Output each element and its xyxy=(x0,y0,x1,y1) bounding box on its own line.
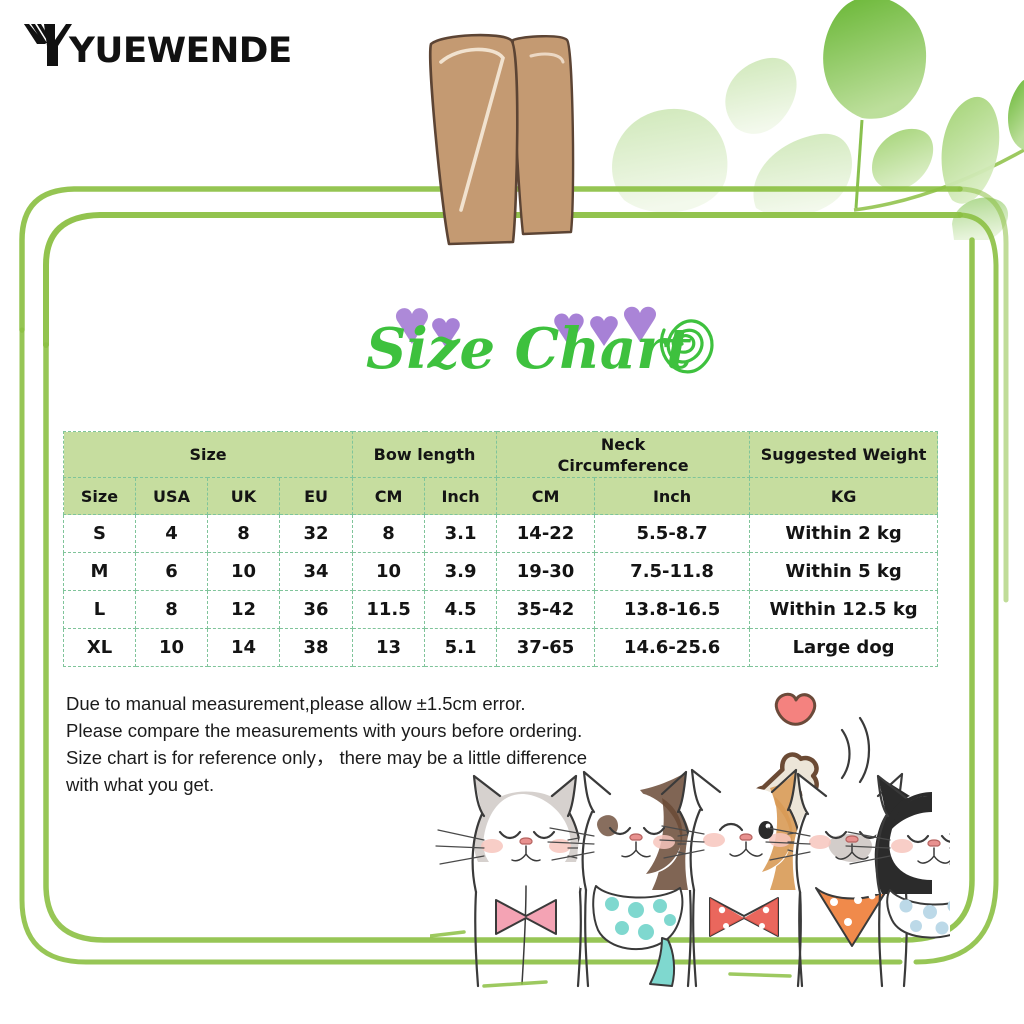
group-header-neck-line2: Circumference xyxy=(497,455,749,476)
column-header-size: Size xyxy=(64,478,136,515)
wooden-clothespin-icon xyxy=(415,28,590,248)
orange-polka-bandana-icon xyxy=(816,888,888,946)
cell-size: M xyxy=(64,553,136,591)
size-chart-page: Size Chart Size Bow length Neck Circumfe… xyxy=(0,0,1024,1024)
group-header-neck-line1: Neck xyxy=(497,434,749,455)
size-chart-table-container: Size Bow length Neck Circumference Sugge… xyxy=(63,431,937,667)
red-polka-bow-tie-icon xyxy=(710,898,778,936)
table-column-header-row: Size USA UK EU CM Inch CM Inch KG xyxy=(64,478,938,515)
brand-name: YUEWENDE xyxy=(69,34,292,68)
column-header-uk: UK xyxy=(208,478,280,515)
cell-bow-cm: 10 xyxy=(353,553,425,591)
group-header-size: Size xyxy=(64,432,353,478)
cell-neck-cm: 35-42 xyxy=(497,591,595,629)
measurement-disclaimer: Due to manual measurement,please allow ±… xyxy=(66,690,686,798)
table-row: M 6 10 34 10 3.9 19-30 7.5-11.8 Within 5… xyxy=(64,553,938,591)
cartoon-cat-icon xyxy=(436,776,616,986)
cell-neck-inch: 5.5-8.7 xyxy=(595,515,750,553)
cell-weight: Within 12.5 kg xyxy=(750,591,938,629)
green-leaf-icon xyxy=(872,129,933,190)
leaf-decoration-group xyxy=(604,0,1024,240)
dog-bone-icon xyxy=(746,745,887,878)
group-header-suggested-weight: Suggested Weight xyxy=(750,432,938,478)
cell-neck-cm: 37-65 xyxy=(497,629,595,667)
cell-bow-inch: 3.9 xyxy=(425,553,497,591)
cell-usa: 10 xyxy=(136,629,208,667)
mint-polka-scarf-icon xyxy=(593,886,682,986)
disclaimer-line-2: Please compare the measurements with you… xyxy=(66,717,686,744)
green-leaf-icon xyxy=(823,0,926,119)
pink-heart-icon xyxy=(776,694,814,724)
cell-bow-cm: 11.5 xyxy=(353,591,425,629)
disclaimer-line-1: Due to manual measurement,please allow ±… xyxy=(66,690,686,717)
green-leaf-icon xyxy=(1008,80,1024,150)
cell-eu: 38 xyxy=(280,629,353,667)
motion-lines-icon xyxy=(842,718,869,782)
green-leaf-icon xyxy=(952,197,1008,240)
green-leaf-icon xyxy=(725,58,796,134)
page-title: Size Chart xyxy=(366,318,692,380)
pink-bow-tie-icon xyxy=(496,900,556,934)
cell-neck-inch: 13.8-16.5 xyxy=(595,591,750,629)
cell-bow-inch: 5.1 xyxy=(425,629,497,667)
cell-eu: 36 xyxy=(280,591,353,629)
table-row: S 4 8 32 8 3.1 14-22 5.5-8.7 Within 2 kg xyxy=(64,515,938,553)
column-header-eu: EU xyxy=(280,478,353,515)
cell-usa: 8 xyxy=(136,591,208,629)
table-row: XL 10 14 38 13 5.1 37-65 14.6-25.6 Large… xyxy=(64,629,938,667)
column-header-bow-inch: Inch xyxy=(425,478,497,515)
cell-bow-cm: 13 xyxy=(353,629,425,667)
cell-uk: 14 xyxy=(208,629,280,667)
grass-stroke-icon xyxy=(430,932,790,986)
cell-usa: 4 xyxy=(136,515,208,553)
disclaimer-line-3: Size chart is for reference only， there … xyxy=(66,744,686,771)
title-block: Size Chart xyxy=(360,300,720,400)
cell-neck-cm: 14-22 xyxy=(497,515,595,553)
cartoon-cat-icon xyxy=(766,774,938,986)
cartoon-cat-icon xyxy=(548,772,724,986)
cell-weight: Within 2 kg xyxy=(750,515,938,553)
cell-uk: 12 xyxy=(208,591,280,629)
cell-neck-inch: 7.5-11.8 xyxy=(595,553,750,591)
cell-usa: 6 xyxy=(136,553,208,591)
size-chart-table: Size Bow length Neck Circumference Sugge… xyxy=(63,431,938,667)
cell-uk: 8 xyxy=(208,515,280,553)
cell-size: S xyxy=(64,515,136,553)
cell-neck-inch: 14.6-25.6 xyxy=(595,629,750,667)
table-row: L 8 12 36 11.5 4.5 35-42 13.8-16.5 Withi… xyxy=(64,591,938,629)
cell-size: XL xyxy=(64,629,136,667)
cartoon-cat-icon xyxy=(660,770,832,986)
column-header-usa: USA xyxy=(136,478,208,515)
cell-uk: 10 xyxy=(208,553,280,591)
column-header-weight-kg: KG xyxy=(750,478,938,515)
table-group-header-row: Size Bow length Neck Circumference Sugge… xyxy=(64,432,938,478)
cell-eu: 32 xyxy=(280,515,353,553)
cell-eu: 34 xyxy=(280,553,353,591)
group-header-bow-length: Bow length xyxy=(353,432,497,478)
cell-bow-inch: 3.1 xyxy=(425,515,497,553)
group-header-neck-circumference: Neck Circumference xyxy=(497,432,750,478)
green-leaf-icon xyxy=(753,134,852,217)
cell-size: L xyxy=(64,591,136,629)
cell-weight: Large dog xyxy=(750,629,938,667)
cell-bow-inch: 4.5 xyxy=(425,591,497,629)
column-header-neck-cm: CM xyxy=(497,478,595,515)
column-header-bow-cm: CM xyxy=(353,478,425,515)
blue-polka-collar-icon xyxy=(887,890,950,938)
green-leaf-icon xyxy=(942,97,1000,204)
cell-weight: Within 5 kg xyxy=(750,553,938,591)
brand-logo: YUEWENDE xyxy=(22,22,287,68)
disclaimer-line-4: with what you get. xyxy=(66,771,686,798)
cell-neck-cm: 19-30 xyxy=(497,553,595,591)
cartoon-cat-icon xyxy=(846,776,950,986)
striped-y-logo-icon xyxy=(22,22,72,68)
column-header-neck-inch: Inch xyxy=(595,478,750,515)
cell-bow-cm: 8 xyxy=(353,515,425,553)
green-leaf-icon xyxy=(612,109,727,213)
